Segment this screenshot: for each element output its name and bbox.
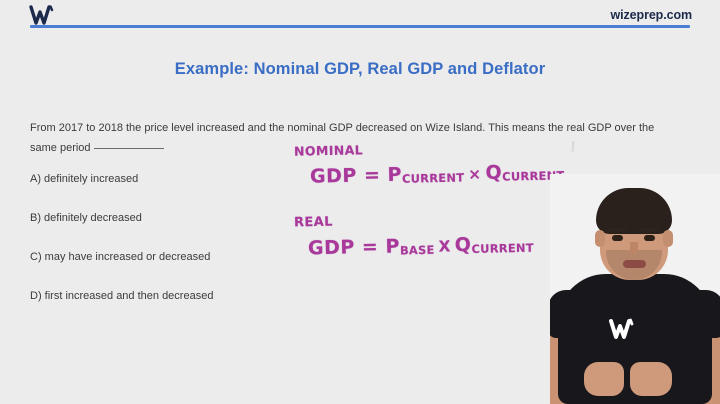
presenter-eye-left [612, 235, 623, 241]
presenter-mouth [623, 260, 646, 268]
header-divider [30, 25, 690, 28]
page-title: Example: Nominal GDP, Real GDP and Defla… [0, 60, 720, 79]
presenter-hand-left [584, 362, 624, 396]
ink-nominal-formula: GDP = PCURRENT×QCURRENT [310, 160, 565, 187]
presenter-hand-right [630, 362, 672, 396]
answer-option-c[interactable]: C) may have increased or decreased [30, 250, 330, 265]
presenter-sleeve-right [684, 290, 720, 338]
slide-canvas: wizeprep.com Example: Nominal GDP, Real … [0, 0, 720, 404]
ink-real-q-sub: CURRENT [471, 241, 534, 256]
presenter-sleeve-left [550, 290, 588, 338]
ink-nominal-times: × [464, 165, 486, 183]
ink-nominal-lhs: GDP [310, 165, 357, 188]
ink-real-q: Q [455, 234, 472, 256]
presenter-eye-right [644, 235, 655, 241]
presenter-nose [630, 242, 638, 254]
answer-blank-underline [94, 148, 164, 149]
ink-real-p: P [385, 235, 400, 257]
slide-header: wizeprep.com [0, 0, 720, 36]
ink-nominal-p-sub: CURRENT [402, 170, 465, 185]
presenter-ear-left [595, 230, 605, 247]
presenter-ear-right [663, 230, 673, 247]
presenter-eyebrow-right [641, 228, 658, 232]
presenter-hair [596, 188, 672, 234]
answer-option-b[interactable]: B) definitely decreased [30, 211, 330, 226]
wize-w-logo-icon [608, 317, 638, 341]
answer-option-d[interactable]: D) first increased and then decreased [30, 289, 330, 304]
ink-real-equals: = [362, 236, 379, 258]
ink-real-lhs: GDP [308, 236, 355, 259]
ink-real-formula: GDP = PBASEXQCURRENT [308, 233, 534, 260]
answer-option-a[interactable]: A) definitely increased [30, 172, 330, 187]
presenter-video-overlay [550, 174, 720, 404]
ink-nominal-equals: = [364, 164, 381, 186]
answer-options-list: A) definitely increased B) definitely de… [30, 172, 330, 328]
ink-real-label: REAL [294, 215, 333, 231]
ink-nominal-label: NOMINAL [294, 142, 363, 158]
ink-real-p-sub: BASE [400, 243, 435, 258]
brand-url-text: wizeprep.com [611, 8, 692, 22]
presenter-eyebrow-left [609, 228, 626, 232]
ink-real-times: X [434, 237, 455, 255]
ink-nominal-p: P [387, 164, 402, 186]
wize-w-logo-icon [29, 4, 59, 26]
ink-nominal-q: Q [485, 162, 502, 184]
